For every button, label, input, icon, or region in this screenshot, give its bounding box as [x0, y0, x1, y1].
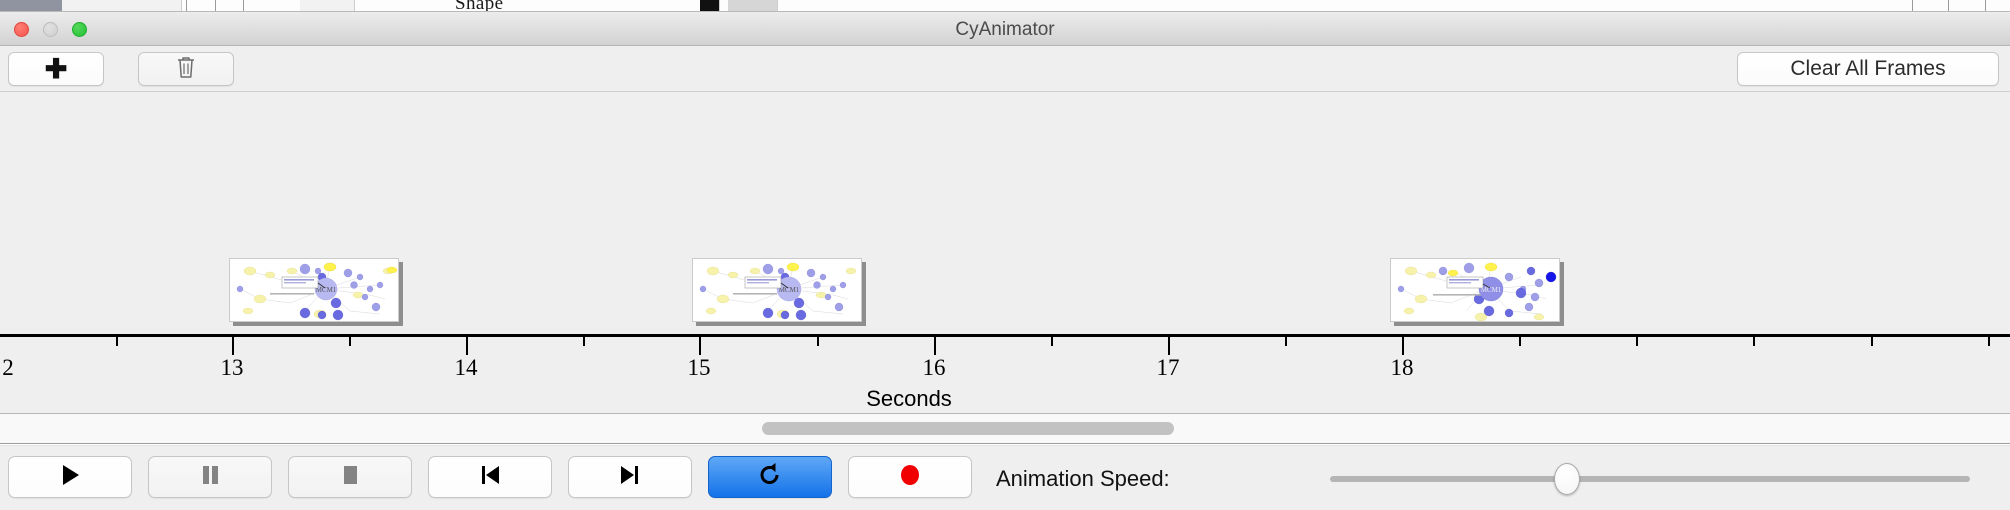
svg-text:MCM1: MCM1 — [1481, 286, 1502, 294]
ruler-major-tick — [466, 337, 468, 355]
timeline-frame-thumbnail[interactable]: MCM1 — [229, 258, 403, 326]
scrollbar-thumb[interactable] — [762, 422, 1174, 435]
ruler-label: 14 — [455, 355, 478, 381]
svg-text:MCM1: MCM1 — [316, 286, 337, 294]
ruler-label: 13 — [221, 355, 244, 381]
background-window-strip: Shape — [0, 0, 2010, 12]
ruler-major-tick — [1168, 337, 1170, 355]
background-titlebar-segment — [0, 0, 62, 12]
titlebar: CyAnimator — [0, 12, 2010, 46]
ruler-minor-tick — [1753, 337, 1755, 346]
ruler-major-tick — [699, 337, 701, 355]
ruler-label: 2 — [2, 355, 14, 381]
plus-icon: ✚ — [45, 56, 68, 83]
timeline-scrollbar[interactable] — [0, 414, 2010, 444]
timeline-panel[interactable]: MCM1 — [0, 92, 2010, 414]
ruler-label: 18 — [1391, 355, 1414, 381]
network-thumbnail: MCM1 — [692, 258, 862, 322]
animation-speed-label: Animation Speed: — [996, 466, 1170, 492]
ruler-minor-tick — [583, 337, 585, 346]
ruler-minor-tick — [349, 337, 351, 346]
background-notch — [1985, 0, 1986, 12]
ruler-label: 15 — [688, 355, 711, 381]
background-window-label: Shape — [455, 0, 503, 12]
pause-icon — [199, 463, 221, 492]
network-thumbnail: MCM1 — [1390, 258, 1560, 322]
background-notch — [243, 0, 244, 12]
ruler-minor-tick — [116, 337, 118, 346]
record-icon — [898, 463, 922, 492]
next-frame-button[interactable] — [568, 456, 692, 498]
record-button[interactable] — [848, 456, 972, 498]
svg-text:MCM1: MCM1 — [779, 286, 800, 294]
ruler-minor-tick — [1871, 337, 1873, 346]
ruler-minor-tick — [1988, 337, 1990, 346]
background-marker — [700, 0, 720, 12]
play-icon — [59, 463, 81, 492]
delete-frame-button[interactable] — [138, 52, 234, 86]
stop-icon — [339, 463, 361, 492]
ruler-minor-tick — [817, 337, 819, 346]
skip-back-icon — [478, 463, 502, 492]
play-button[interactable] — [8, 456, 132, 498]
skip-forward-icon — [618, 463, 642, 492]
ruler-minor-tick — [1519, 337, 1521, 346]
cyanimator-window: Shape CyAnimator ✚ Clear All Frames — [0, 0, 2010, 510]
loop-icon — [757, 462, 783, 493]
ruler-minor-tick — [1285, 337, 1287, 346]
playback-controls: Animation Speed: — [0, 445, 2010, 510]
timeline-axis-title: Seconds — [0, 386, 1818, 412]
animation-speed-slider[interactable] — [1330, 476, 1970, 482]
network-thumbnail: MCM1 — [229, 258, 399, 322]
ruler-minor-tick — [1051, 337, 1053, 346]
timeline-frame-thumbnail[interactable]: MCM1 — [1390, 258, 1564, 326]
timeline-frame-thumbnail[interactable]: MCM1 — [692, 258, 866, 326]
background-notch — [1912, 0, 1913, 12]
ruler-minor-tick — [1636, 337, 1638, 346]
stop-button[interactable] — [288, 456, 412, 498]
ruler-label: 17 — [1157, 355, 1180, 381]
add-frame-button[interactable]: ✚ — [8, 52, 104, 86]
window-title: CyAnimator — [0, 19, 2010, 41]
clear-all-frames-label: Clear All Frames — [1790, 57, 1945, 81]
trash-icon — [176, 55, 196, 84]
clear-all-frames-button[interactable]: Clear All Frames — [1737, 52, 1999, 86]
timeline-ruler — [0, 334, 2010, 337]
background-notch — [186, 0, 187, 12]
background-tab — [62, 0, 182, 12]
ruler-label: 16 — [923, 355, 946, 381]
background-tab — [728, 0, 778, 12]
ruler-major-tick — [1402, 337, 1404, 355]
ruler-major-tick — [232, 337, 234, 355]
background-notch — [1948, 0, 1949, 12]
ruler-major-tick — [934, 337, 936, 355]
loop-button[interactable] — [708, 456, 832, 498]
pause-button[interactable] — [148, 456, 272, 498]
animation-speed-slider-knob[interactable] — [1554, 463, 1580, 495]
frame-toolbar: ✚ Clear All Frames — [0, 46, 2010, 92]
background-notch — [215, 0, 216, 12]
previous-frame-button[interactable] — [428, 456, 552, 498]
background-tab — [300, 0, 355, 12]
